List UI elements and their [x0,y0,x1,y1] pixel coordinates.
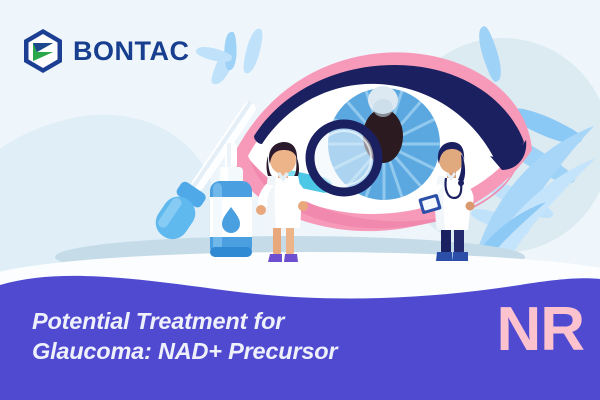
bontac-hexagon-logo-icon [22,28,64,74]
doctor-with-magnifier [246,140,318,268]
banner-highlight-nr: NR [496,299,584,361]
banner-title-line-1: Potential Treatment for [32,307,452,337]
banner-title-line-2: Glaucoma: NAD+ Precursor [32,337,452,367]
doctor-with-clipboard [418,140,486,268]
banner-title: Potential Treatment for Glaucoma: NAD+ P… [32,307,452,367]
brand-logo: BONTAC [22,28,189,74]
brand-name: BONTAC [73,38,189,65]
title-banner: Potential Treatment for Glaucoma: NAD+ P… [0,265,600,400]
infographic-canvas: BONTAC [0,0,600,400]
